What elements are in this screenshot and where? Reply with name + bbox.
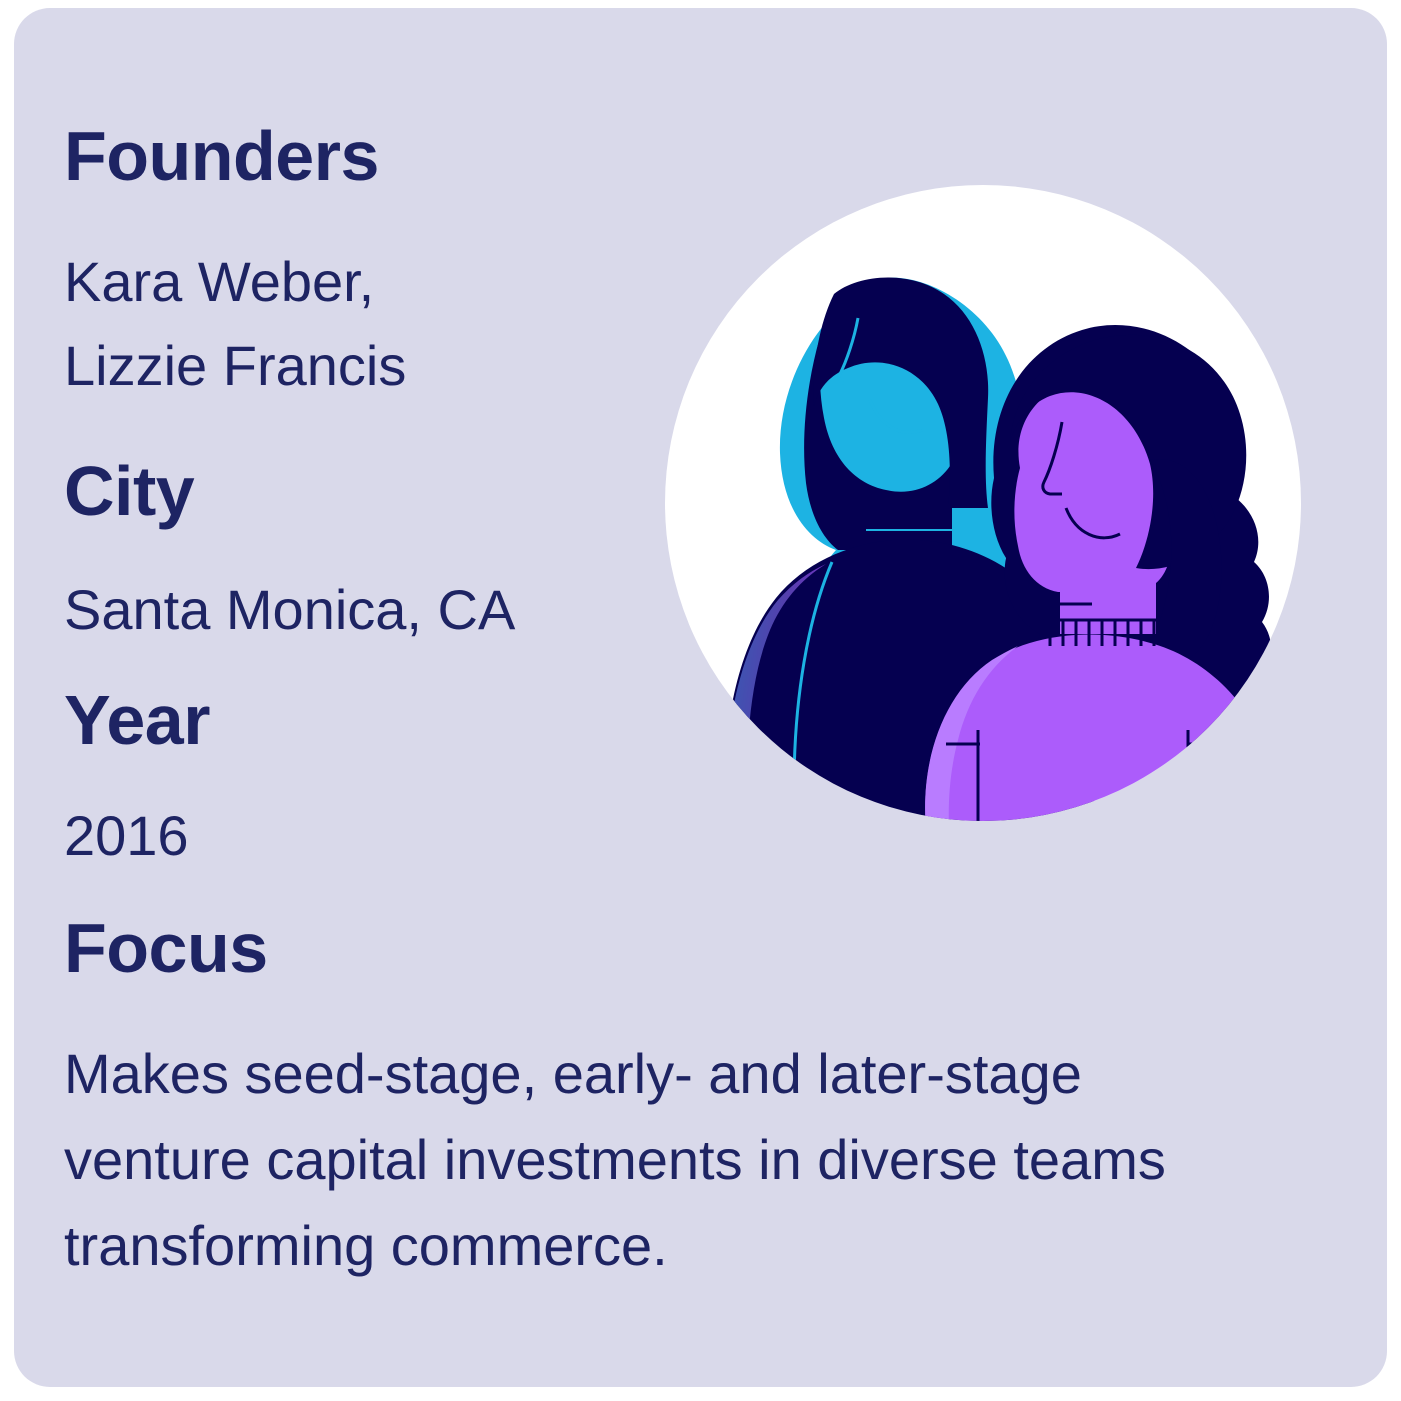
focus-label: Focus: [64, 908, 268, 988]
founders-label: Founders: [64, 116, 379, 196]
founders-value: Kara Weber, Lizzie Francis: [64, 240, 624, 408]
focus-value: Makes seed-stage, early- and later-stage…: [64, 1031, 1264, 1289]
founder-profile-card: Founders Kara Weber, Lizzie Francis City…: [14, 8, 1387, 1387]
founder-name-1: Kara Weber,: [64, 240, 624, 324]
founder-name-2: Lizzie Francis: [64, 324, 624, 408]
year-value: 2016: [64, 796, 189, 876]
city-value: Santa Monica, CA: [64, 570, 515, 650]
two-women-portrait-illustration: [658, 178, 1308, 828]
city-label: City: [64, 451, 194, 531]
year-label: Year: [64, 680, 210, 760]
